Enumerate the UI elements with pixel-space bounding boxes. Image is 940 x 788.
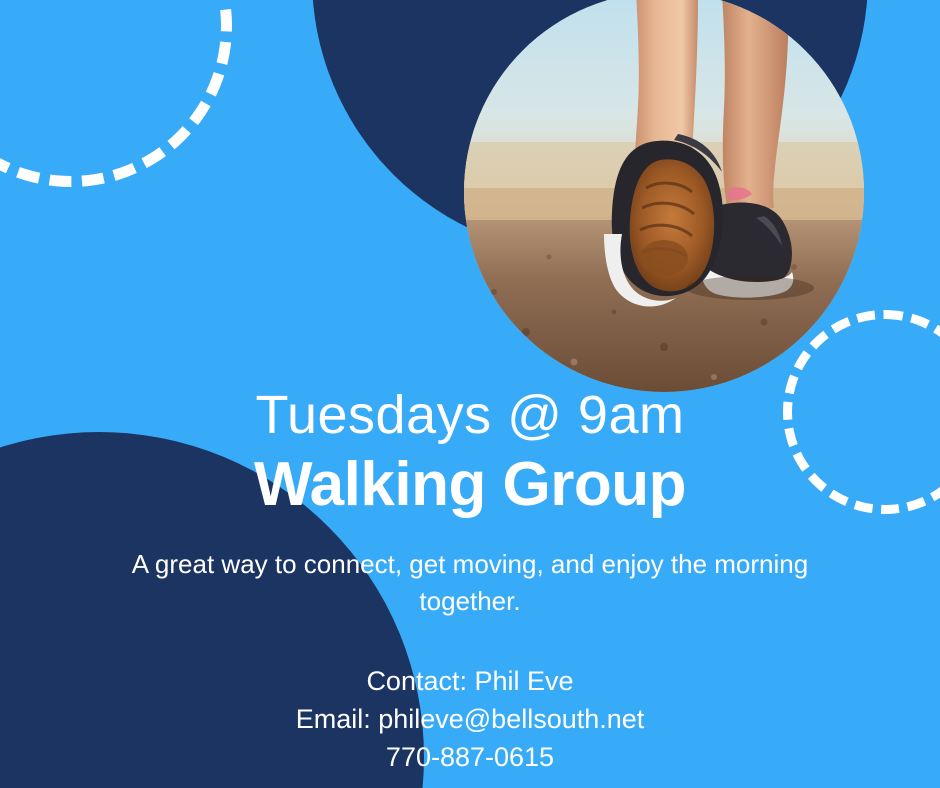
contact-block: Contact: Phil Eve Email: phileve@bellsou… bbox=[70, 663, 870, 776]
poster-subtitle: A great way to connect, get moving, and … bbox=[110, 546, 830, 620]
dashed-circle-top-left-icon bbox=[0, 0, 232, 187]
headline-title: Walking Group bbox=[0, 451, 940, 519]
contact-name: Contact: Phil Eve bbox=[70, 663, 870, 701]
walking-photo bbox=[464, 0, 864, 392]
contact-phone: 770-887-0615 bbox=[70, 739, 870, 777]
contact-email: Email: phileve@bellsouth.net bbox=[70, 701, 870, 739]
poster-canvas: Tuesdays @ 9am Walking Group A great way… bbox=[0, 0, 940, 788]
poster-text-block: Tuesdays @ 9am Walking Group A great way… bbox=[0, 385, 940, 776]
headline-schedule: Tuesdays @ 9am bbox=[0, 385, 940, 445]
